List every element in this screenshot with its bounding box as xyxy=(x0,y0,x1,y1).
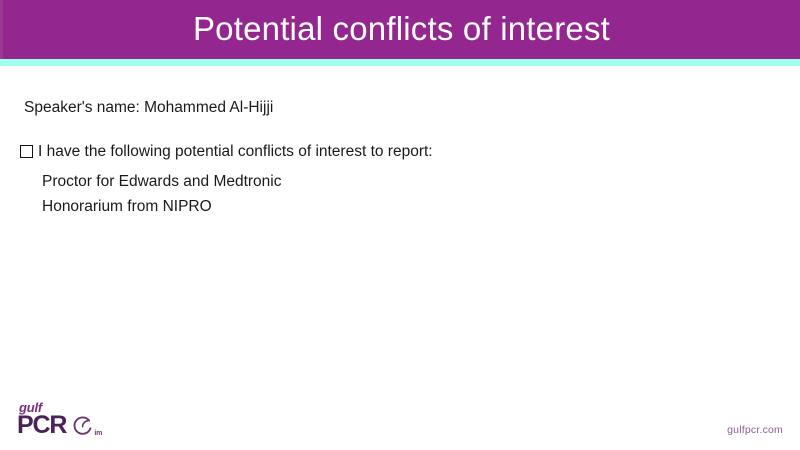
speaker-name-line: Speaker's name: Mohammed Al-Hijji xyxy=(24,98,273,117)
logo-main-row: PCR im xyxy=(17,413,93,438)
logo-im-superscript: im xyxy=(94,430,102,437)
page-title: Potential conflicts of interest xyxy=(193,12,610,45)
title-banner: Potential conflicts of interest xyxy=(0,0,800,59)
logo-pcr-text: PCR xyxy=(17,413,66,438)
accent-rule xyxy=(0,59,800,66)
swirl-c-icon: im xyxy=(72,416,93,437)
disclosure-list: Proctor for Edwards and Medtronic Honora… xyxy=(20,169,760,219)
list-item: Proctor for Edwards and Medtronic xyxy=(42,169,760,194)
site-url: gulfpcr.com xyxy=(727,425,783,436)
disclosure-block: I have the following potential conflicts… xyxy=(20,142,760,219)
list-item: Honorarium from NIPRO xyxy=(42,194,760,219)
slide-body: Speaker's name: Mohammed Al-Hijji I have… xyxy=(0,66,800,396)
slide-canvas: Potential conflicts of interest Speaker'… xyxy=(0,0,800,450)
disclosure-statement-row: I have the following potential conflicts… xyxy=(20,142,760,162)
gulfpcr-logo: gulf PCR im xyxy=(17,401,127,443)
disclosure-statement-text: I have the following potential conflicts… xyxy=(38,142,433,162)
checkbox-square-bullet-icon xyxy=(20,145,33,158)
